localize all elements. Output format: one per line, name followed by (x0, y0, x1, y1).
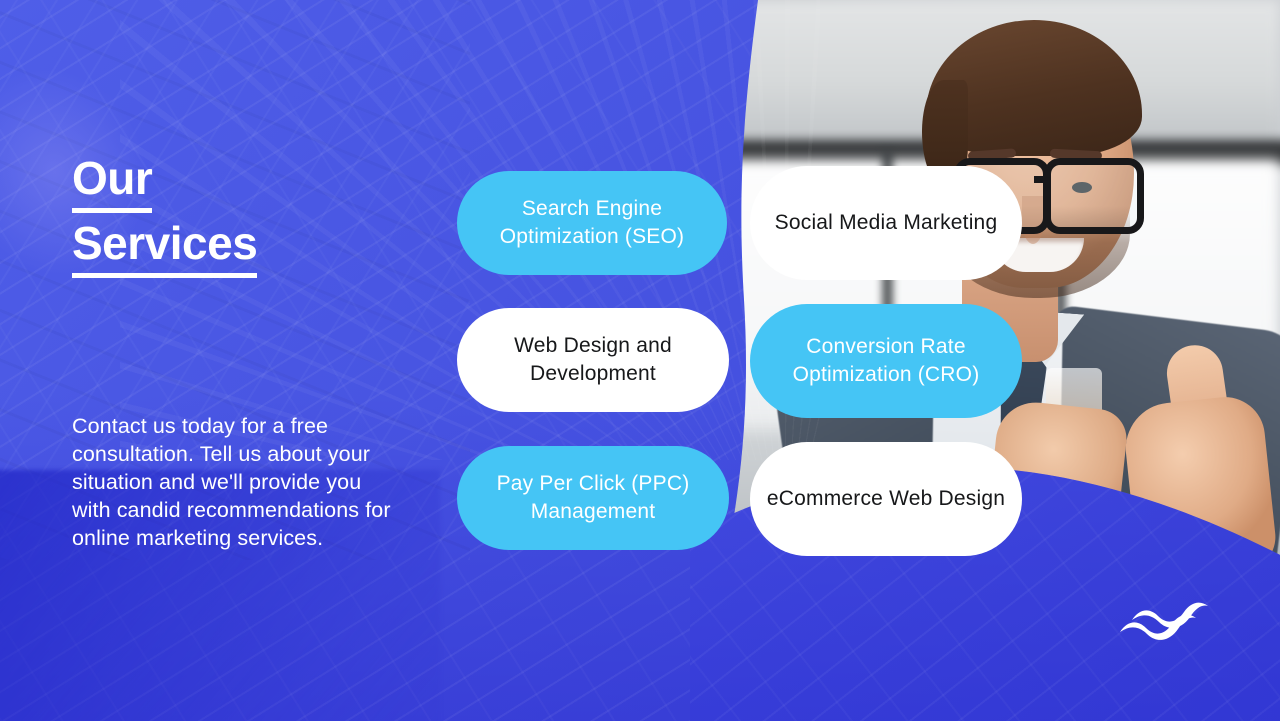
service-pill-ecommerce-web-design[interactable]: eCommerce Web Design (750, 442, 1022, 556)
services-slide: Our Services Contact us today for a free… (0, 0, 1280, 721)
body-paragraph: Contact us today for a free consultation… (72, 412, 392, 552)
wave-logo (1118, 592, 1210, 648)
service-pill-seo[interactable]: Search Engine Optimization (SEO) (457, 171, 727, 275)
service-pill-social-media-marketing[interactable]: Social Media Marketing (750, 166, 1022, 280)
page-title-line-1: Our (72, 152, 152, 213)
service-pill-web-design-and-development[interactable]: Web Design and Development (457, 308, 729, 412)
page-title: Our Services (72, 152, 452, 282)
page-title-line-2: Services (72, 217, 257, 278)
glasses-icon (1044, 158, 1144, 234)
service-pill-cro[interactable]: Conversion Rate Optimization (CRO) (750, 304, 1022, 418)
service-pill-ppc[interactable]: Pay Per Click (PPC) Management (457, 446, 729, 550)
